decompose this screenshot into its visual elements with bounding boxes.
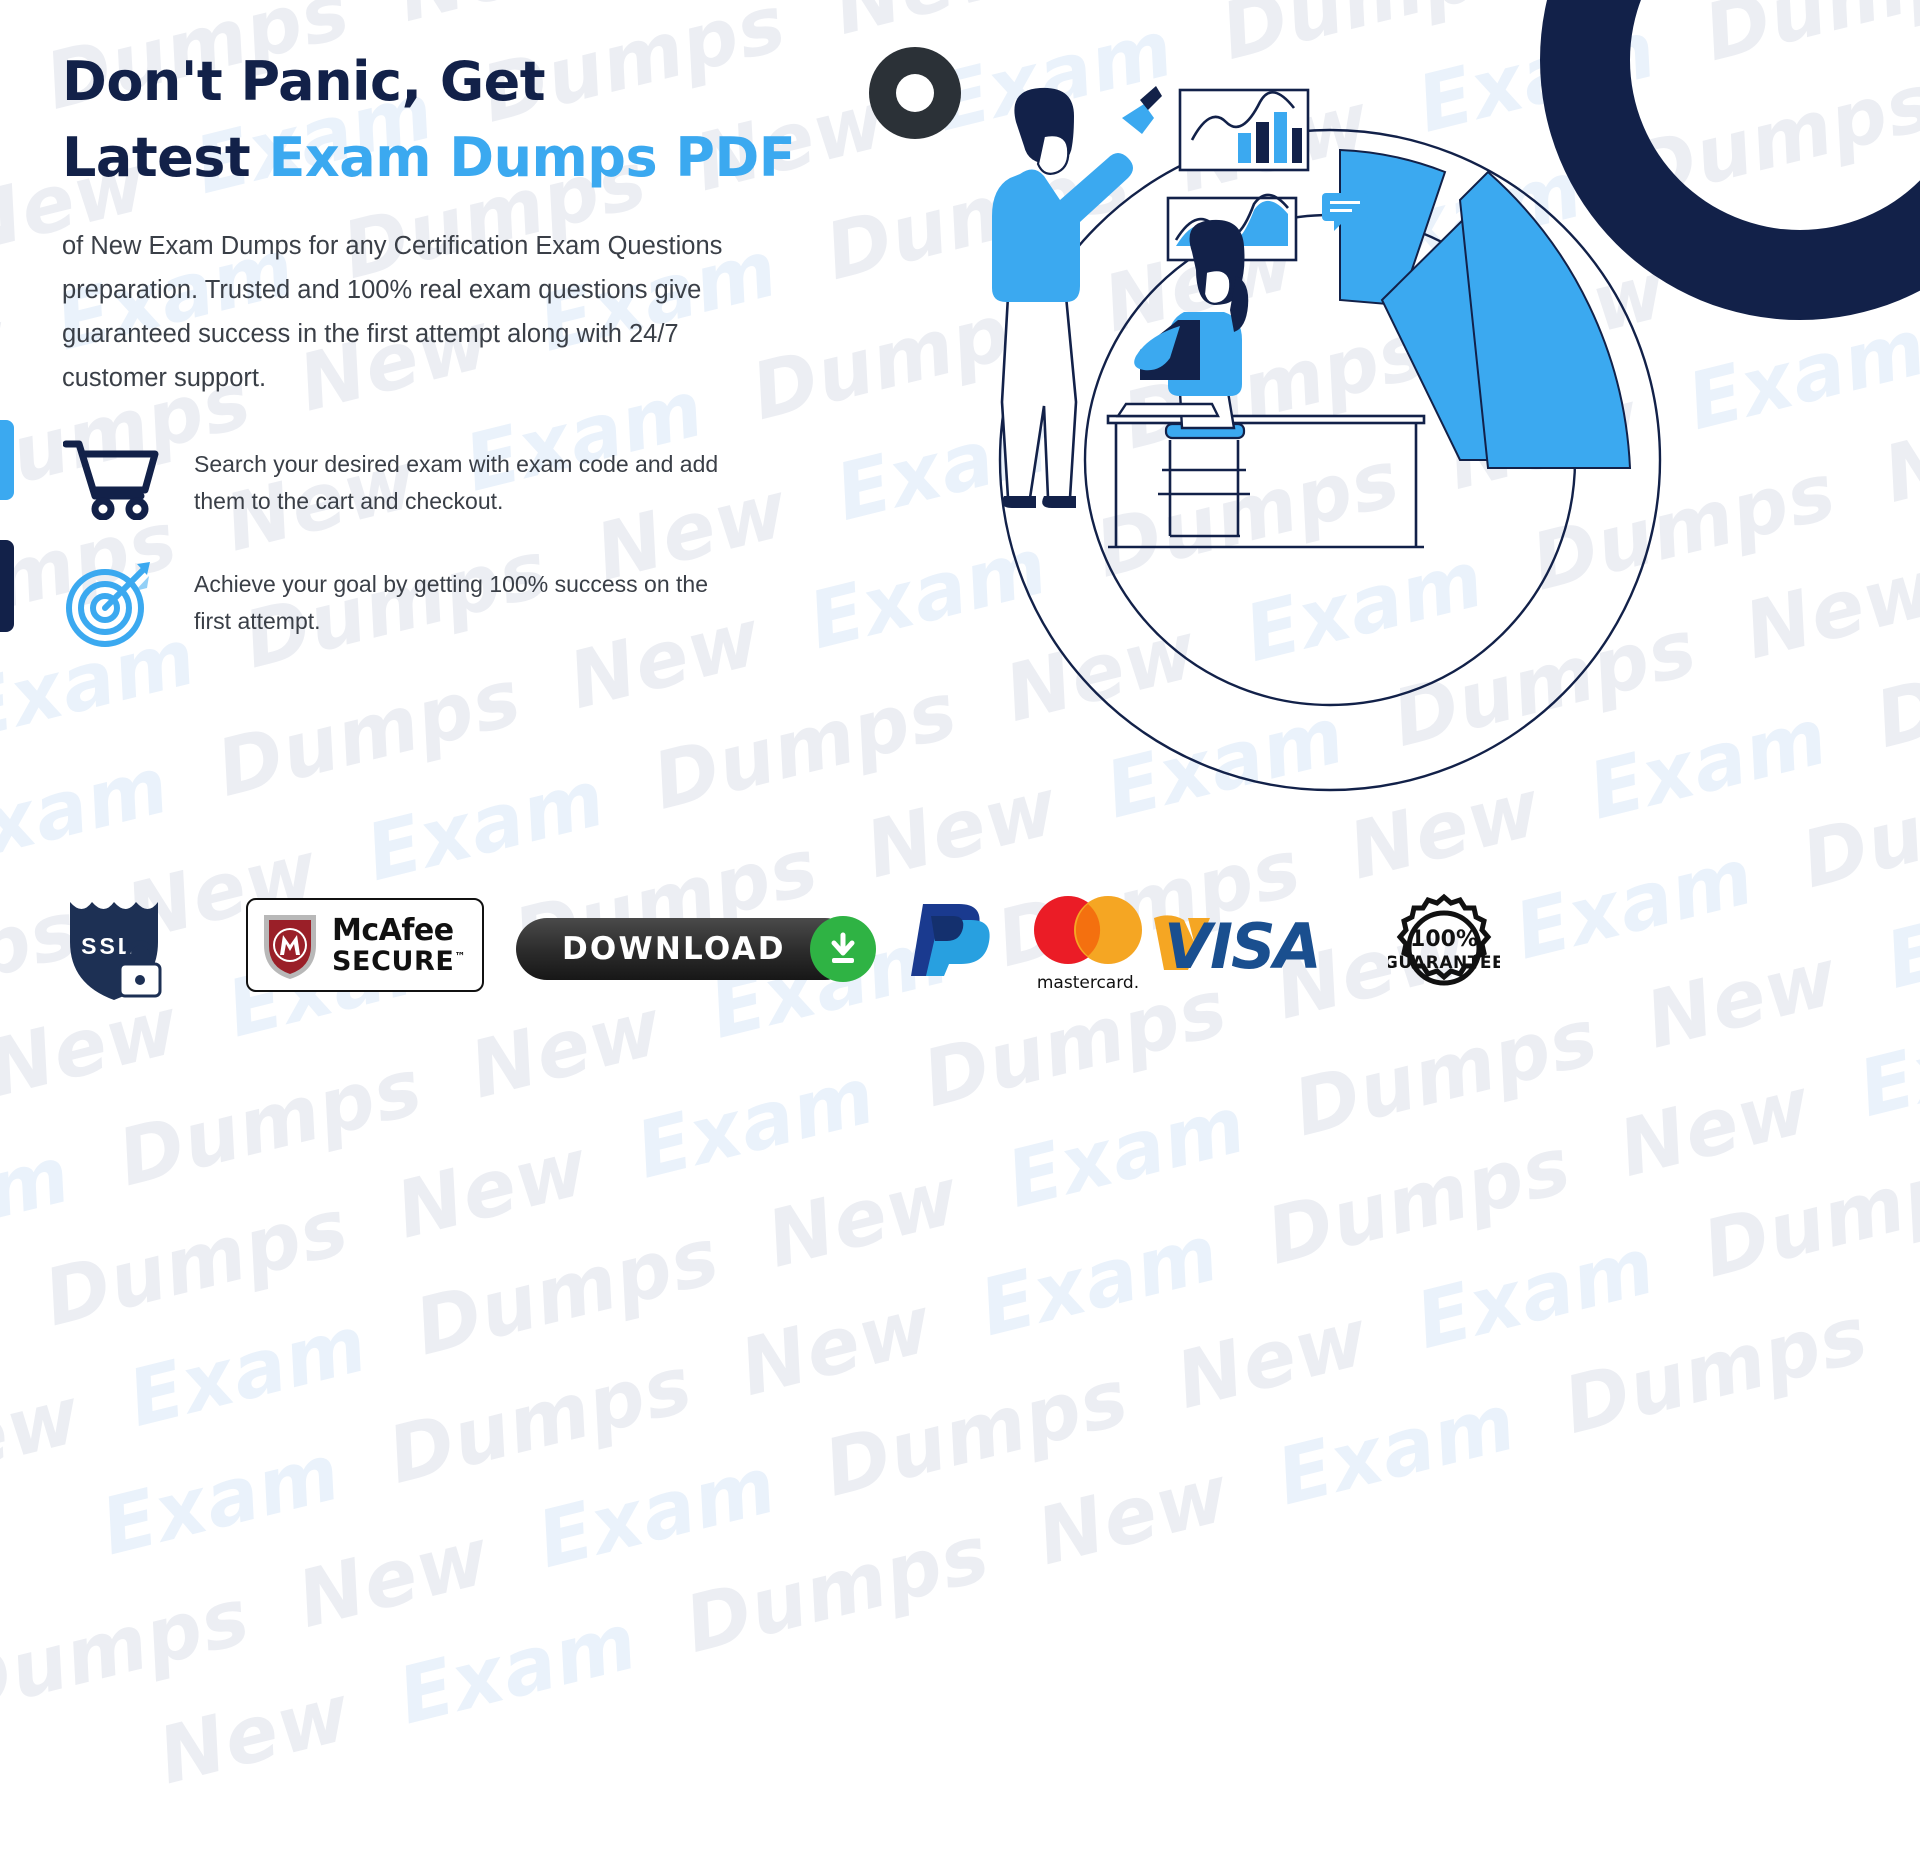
watermark-word: Exam [1269,1377,1525,1523]
watermark-word: Exam [358,753,614,899]
mastercard-icon: mastercard. [1020,892,1156,993]
download-button[interactable]: DOWNLOAD [516,916,876,982]
watermark-word: Exam [529,1440,785,1586]
feature-item-cart-label: Search your desired exam with exam code … [194,438,724,520]
shopping-cart-icon [62,438,160,520]
edge-tab-navy [0,540,14,632]
mcafee-line-1: McAfee [332,916,466,946]
watermark-word: Dumps [1695,1133,1920,1295]
watermark-word: Dumps [1258,1121,1579,1283]
mcafee-tm: ™ [454,950,466,963]
feature-item-target-label: Achieve your goal by getting 100% succes… [194,558,724,640]
mcafee-secure-badge: McAfee SECURE™ [246,898,484,992]
navy-donut-corner [1540,0,1920,320]
feature-list: Search your desired exam with exam code … [62,438,852,648]
watermark-word: Exam [0,1130,79,1276]
headline-line-1: Don't Panic, Get [62,50,545,113]
guarantee-seal-icon: 100% GUARANTEE [1388,892,1500,1009]
page-title: Don't Panic, Get Latest Exam Dumps PDF [62,44,852,196]
watermark-word: New [389,0,598,40]
headline-line-2-plain: Latest [62,126,269,189]
watermark-word: Dumps [407,1211,728,1373]
watermark-word: Exam [0,740,178,886]
watermark-row: DumpsNewExamDumpsNewExamDumpsNewExam [0,1023,1920,1747]
watermark-word: New [759,1151,968,1285]
intro-paragraph: of New Exam Dumps for any Certification … [62,224,752,400]
mcafee-shield-icon [260,909,320,981]
watermark-word: Exam [120,1299,376,1445]
trust-badge-row: SSL McAfee SECURE™ [0,880,1920,1080]
download-button-pill[interactable]: DOWNLOAD [516,918,856,980]
watermark-word: New [1029,1449,1238,1583]
watermark-row: NewExamDumpsNewExamDumpsNewExamDumps [0,1138,1920,1862]
watermark-word: Dumps [816,1352,1137,1514]
download-arrow-icon[interactable] [810,916,876,982]
watermark-word: Exam [1408,1221,1664,1367]
watermark-word: Dumps [0,1572,259,1734]
dark-ring-dot [869,47,961,139]
desk [1108,416,1424,547]
left-content-column: Don't Panic, Get Latest Exam Dumps PDF o… [62,44,852,648]
watermark-word: Dumps [36,1182,357,1344]
guarantee-line-2: GUARANTEE [1388,953,1500,973]
analytics-donut-people-illustration [840,0,1920,880]
watermark-word: Dumps [677,1509,998,1671]
watermark-word: Dumps [209,653,530,815]
headline-line-2: Latest Exam Dumps PDF [62,120,852,196]
watermark-word: New [0,294,17,428]
headline-line-2-accent: Exam Dumps PDF [269,126,796,189]
watermark-word: Dumps [1555,1290,1876,1452]
download-button-label: DOWNLOAD [562,931,786,967]
mastercard-label: mastercard. [1020,973,1156,993]
target-dart-icon [62,558,160,648]
seated-person [1118,220,1250,536]
watermark-word: Exam [999,1080,1255,1226]
watermark-word: New [1611,1061,1820,1195]
watermark-word: Exam [93,1427,349,1573]
watermark-word: Exam [0,53,7,199]
watermark-word: New [732,1280,941,1414]
watermark-word: New [1908,1230,1920,1364]
standing-person [992,86,1162,508]
watermark-word: Exam [0,0,34,71]
watermark-word: Dumps [380,1340,701,1502]
edge-tab-blue [0,420,14,500]
guarantee-line-1: 100% [1410,927,1478,952]
bar-chart-board [1180,90,1308,170]
watermark-word: Exam [972,1208,1228,1354]
watermark-word: New [0,1371,89,1505]
visa-icon: VISA [1152,908,1352,985]
watermark-word: New [1168,1293,1377,1427]
visa-label: VISA [1164,910,1320,980]
paypal-icon [905,898,997,983]
ssl-shield-lock-icon: SSL [62,890,166,1007]
watermark-word: New [150,1668,359,1802]
feature-item-target: Achieve your goal by getting 100% succes… [62,558,852,648]
watermark-word: Exam [390,1597,646,1743]
feature-item-cart: Search your desired exam with exam code … [62,438,852,520]
mcafee-line-2: SECURE™ [332,948,466,975]
watermark-word: New [388,1122,597,1256]
watermark-word: New [289,1512,498,1646]
